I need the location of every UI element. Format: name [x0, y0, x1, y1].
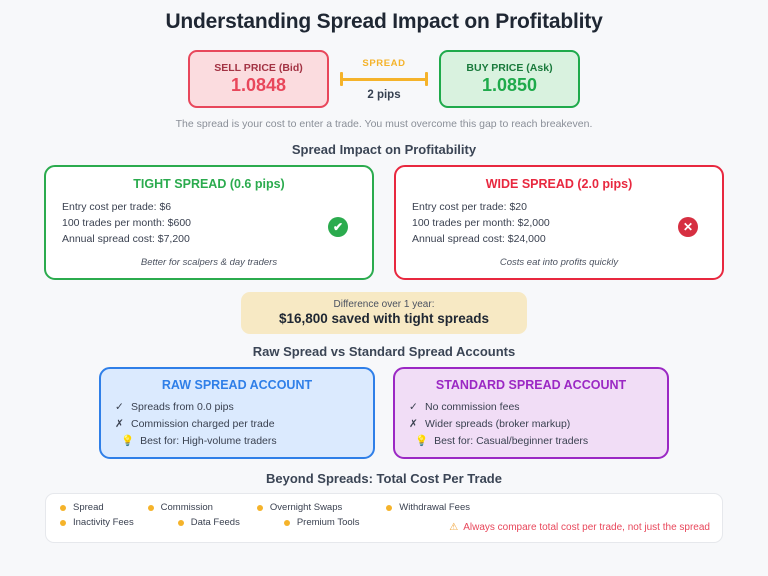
warning-triangle-icon: ⚠: [449, 522, 458, 533]
buy-price-value: 1.0850: [482, 75, 537, 96]
cost-item-label: Spread: [73, 502, 104, 513]
infographic-page: Understanding Spread Impact on Profitabl…: [0, 0, 768, 576]
bullet-dot-icon: [60, 505, 66, 511]
wide-spread-card: WIDE SPREAD (2.0 pips) Entry cost per tr…: [394, 165, 724, 280]
check-mark-icon: ✓: [409, 399, 420, 416]
cross-mark-icon: ✗: [409, 416, 420, 433]
quote-row: SELL PRICE (Bid) 1.0848 SPREAD 2 pips BU…: [0, 50, 768, 108]
cost-item: Premium Tools: [284, 517, 360, 528]
impact-cards-row: TIGHT SPREAD (0.6 pips) Entry cost per t…: [0, 165, 768, 280]
bullet-dot-icon: [178, 520, 184, 526]
cost-item: Inactivity Fees: [60, 517, 134, 528]
raw-account-tip: 💡 Best for: High-volume traders: [115, 433, 359, 450]
tight-spread-line: 100 trades per month: $600: [62, 215, 356, 231]
lightbulb-icon: 💡: [121, 433, 134, 450]
buy-price-box: BUY PRICE (Ask) 1.0850: [439, 50, 580, 108]
sell-price-value: 1.0848: [231, 75, 286, 96]
standard-account-tip: 💡 Best for: Casual/beginner traders: [409, 433, 653, 450]
wide-spread-title: WIDE SPREAD (2.0 pips): [412, 177, 706, 191]
sell-price-box: SELL PRICE (Bid) 1.0848: [188, 50, 329, 108]
lightbulb-icon: 💡: [415, 433, 428, 450]
cross-mark-icon: ✗: [115, 416, 126, 433]
spread-connector: SPREAD 2 pips: [329, 58, 439, 101]
wide-spread-line: Entry cost per trade: $20: [412, 199, 706, 215]
buy-price-label: BUY PRICE (Ask): [466, 62, 552, 74]
wide-spread-line: Annual spread cost: $24,000: [412, 231, 706, 247]
savings-subtitle: Difference over 1 year:: [251, 299, 517, 310]
bullet-dot-icon: [386, 505, 392, 511]
bullet-dot-icon: [148, 505, 154, 511]
standard-account-pro-text: No commission fees: [425, 399, 520, 416]
raw-account-con: ✗ Commission charged per trade: [115, 416, 359, 433]
raw-account-title: RAW SPREAD ACCOUNT: [115, 378, 359, 392]
cost-item-label: Data Feeds: [191, 517, 240, 528]
costs-box: Spread Commission Overnight Swaps Withdr…: [45, 493, 723, 543]
cost-item-label: Premium Tools: [297, 517, 360, 528]
costs-warning-text: Always compare total cost per trade, not…: [463, 522, 710, 533]
spread-ibeam-icon: [340, 72, 428, 86]
tight-spread-note: Better for scalpers & day traders: [46, 257, 372, 268]
tight-spread-card: TIGHT SPREAD (0.6 pips) Entry cost per t…: [44, 165, 374, 280]
savings-banner-wrap: Difference over 1 year: $16,800 saved wi…: [0, 292, 768, 334]
wide-spread-note: Costs eat into profits quickly: [396, 257, 722, 268]
x-circle-icon: ✕: [678, 217, 698, 237]
spread-label: SPREAD: [362, 58, 405, 69]
cost-item: Commission: [148, 502, 213, 513]
tight-spread-line: Entry cost per trade: $6: [62, 199, 356, 215]
check-mark-icon: ✓: [115, 399, 126, 416]
sell-price-label: SELL PRICE (Bid): [214, 62, 302, 74]
standard-account-pro: ✓ No commission fees: [409, 399, 653, 416]
bullet-dot-icon: [60, 520, 66, 526]
raw-account-pro-text: Spreads from 0.0 pips: [131, 399, 234, 416]
raw-account-tip-text: Best for: High-volume traders: [140, 433, 277, 450]
cost-item: Withdrawal Fees: [386, 502, 470, 513]
cost-item: Data Feeds: [178, 517, 240, 528]
wide-spread-line: 100 trades per month: $2,000: [412, 215, 706, 231]
impact-section-heading: Spread Impact on Profitability: [0, 142, 768, 157]
standard-account-con-text: Wider spreads (broker markup): [425, 416, 570, 433]
page-title: Understanding Spread Impact on Profitabl…: [0, 0, 768, 34]
spread-caption: The spread is your cost to enter a trade…: [0, 118, 768, 130]
costs-items-list: Spread Commission Overnight Swaps Withdr…: [60, 502, 480, 528]
costs-section-heading: Beyond Spreads: Total Cost Per Trade: [0, 471, 768, 486]
tight-spread-line: Annual spread cost: $7,200: [62, 231, 356, 247]
raw-account-con-text: Commission charged per trade: [131, 416, 275, 433]
savings-banner: Difference over 1 year: $16,800 saved wi…: [241, 292, 527, 334]
accounts-section-heading: Raw Spread vs Standard Spread Accounts: [0, 344, 768, 359]
cost-item: Spread: [60, 502, 104, 513]
cost-item-label: Commission: [161, 502, 213, 513]
standard-account-con: ✗ Wider spreads (broker markup): [409, 416, 653, 433]
cost-item: Overnight Swaps: [257, 502, 342, 513]
cost-item-label: Inactivity Fees: [73, 517, 134, 528]
check-circle-icon: ✔: [328, 217, 348, 237]
cost-item-label: Overnight Swaps: [270, 502, 342, 513]
bullet-dot-icon: [284, 520, 290, 526]
savings-amount: $16,800 saved with tight spreads: [251, 311, 517, 326]
raw-account-pro: ✓ Spreads from 0.0 pips: [115, 399, 359, 416]
raw-spread-account-card: RAW SPREAD ACCOUNT ✓ Spreads from 0.0 pi…: [99, 367, 375, 459]
costs-warning: ⚠ Always compare total cost per trade, n…: [449, 522, 710, 533]
account-cards-row: RAW SPREAD ACCOUNT ✓ Spreads from 0.0 pi…: [0, 367, 768, 459]
standard-account-title: STANDARD SPREAD ACCOUNT: [409, 378, 653, 392]
standard-account-tip-text: Best for: Casual/beginner traders: [434, 433, 588, 450]
bullet-dot-icon: [257, 505, 263, 511]
tight-spread-title: TIGHT SPREAD (0.6 pips): [62, 177, 356, 191]
standard-spread-account-card: STANDARD SPREAD ACCOUNT ✓ No commission …: [393, 367, 669, 459]
spread-value: 2 pips: [367, 89, 400, 101]
cost-item-label: Withdrawal Fees: [399, 502, 470, 513]
